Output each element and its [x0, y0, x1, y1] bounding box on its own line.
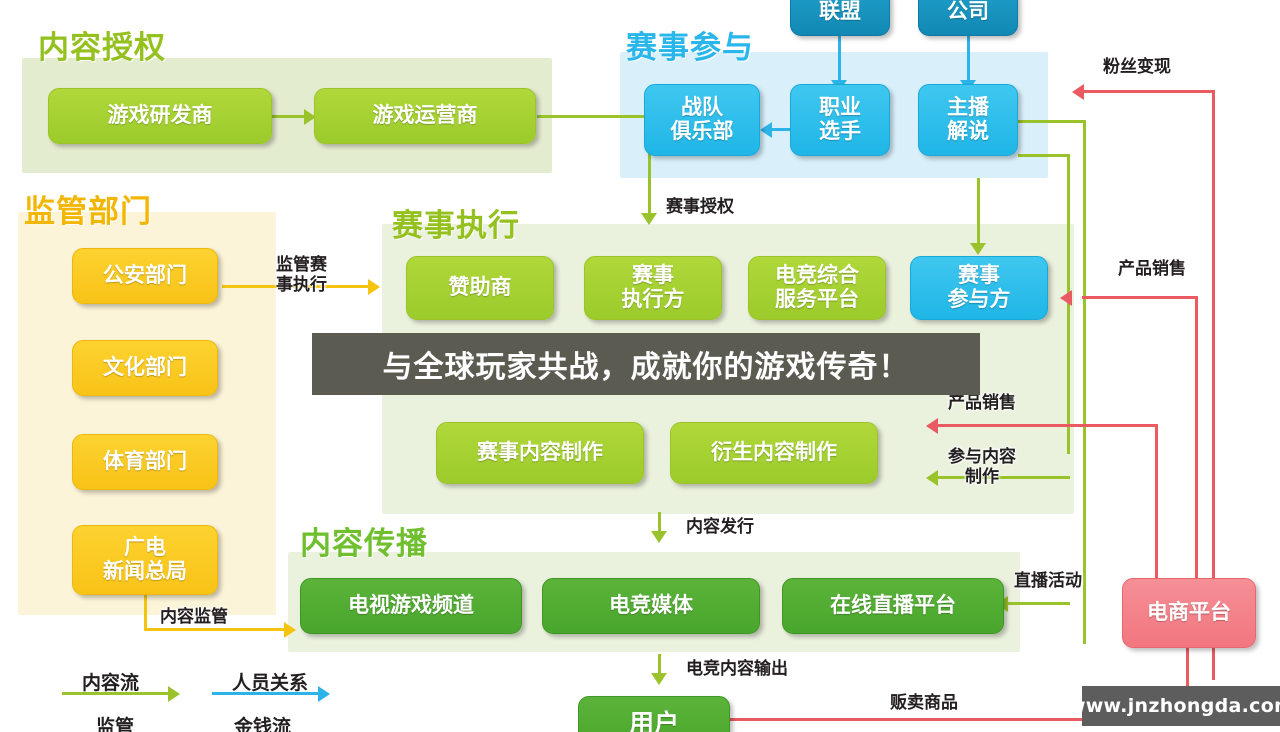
connector-fan-monetization-horizontal: [1084, 90, 1215, 93]
node-company[interactable]: 公司: [918, 0, 1018, 36]
node-derivative-content-production[interactable]: 衍生内容制作: [670, 422, 878, 484]
site-watermark: www.jnzhongda.com: [1082, 686, 1280, 726]
node-event-participant[interactable]: 赛事 参与方: [910, 256, 1048, 320]
edge-label-regulate-event-execution: 监管赛 事执行: [276, 256, 327, 295]
node-culture-dept[interactable]: 文化部门: [72, 340, 218, 396]
arrowhead-join-content-production: [926, 470, 938, 486]
connector-streamer-green-1: [1018, 120, 1086, 123]
node-streamer[interactable]: 主播 解说: [918, 84, 1018, 156]
section-label-content-distribution: 内容传播: [300, 518, 428, 563]
node-event-content-production[interactable]: 赛事内容制作: [436, 422, 644, 484]
section-label-event-execution: 赛事执行: [392, 200, 520, 245]
node-esports-media[interactable]: 电竞媒体: [542, 578, 760, 634]
edge-label-content-regulation: 内容监管: [160, 608, 228, 628]
connector-participation-to-participant: [977, 178, 980, 246]
legend-label-content-flow: 内容流: [82, 668, 139, 695]
legend-label-regulation: 监管: [96, 712, 134, 732]
arrowhead-product-sales-top: [1060, 290, 1072, 306]
node-sarft[interactable]: 广电 新闻总局: [72, 525, 218, 595]
node-user[interactable]: 用户: [578, 696, 730, 732]
node-sports-dept[interactable]: 体育部门: [72, 434, 218, 490]
edge-label-event-authorization: 赛事授权: [666, 198, 734, 218]
connector-product-sales-top: [1082, 296, 1198, 299]
connector-product-sales-mid-v: [1155, 424, 1158, 596]
connector-operator-right: [537, 115, 651, 118]
edge-label-sell-goods: 贩卖商品: [890, 694, 958, 714]
arrowhead-product-sales-mid: [926, 418, 938, 434]
node-public-security[interactable]: 公安部门: [72, 248, 218, 304]
node-team-club[interactable]: 战队 俱乐部: [644, 84, 760, 156]
edge-label-live-activity: 直播活动: [1014, 572, 1082, 592]
legend-arrowhead-content-flow: [168, 686, 180, 702]
node-game-operator[interactable]: 游戏运营商: [314, 88, 536, 144]
section-label-content-licensing: 内容授权: [38, 22, 166, 67]
edge-label-product-sales-top: 产品销售: [1118, 260, 1186, 280]
node-tv-game-channel[interactable]: 电视游戏频道: [300, 578, 522, 634]
node-alliance[interactable]: 联盟: [790, 0, 890, 36]
legend-arrowhead-personnel-relation: [318, 686, 330, 702]
connector-streamer-green-2: [1018, 154, 1070, 157]
legend-label-money-flow: 金钱流: [234, 712, 291, 732]
arrowhead-esports-content-output: [651, 673, 667, 685]
connector-developer-to-operator: [272, 115, 306, 118]
edge-label-content-release: 内容发行: [686, 518, 754, 538]
node-ecommerce-platform[interactable]: 电商平台: [1122, 578, 1256, 648]
arrowhead-regulate-event-execution: [368, 279, 380, 295]
edge-label-join-content-production: 参与内容 制作: [948, 448, 1016, 487]
connector-company-down: [967, 36, 970, 84]
node-sponsor[interactable]: 赞助商: [406, 256, 554, 320]
esports-ecosystem-diagram: 内容授权 监管部门 赛事参与 赛事执行 内容传播 赛事授权 粉丝变现 产品销售 …: [0, 0, 1280, 732]
section-label-event-participation: 赛事参与: [626, 22, 754, 67]
node-pro-player[interactable]: 职业 选手: [790, 84, 890, 156]
connector-content-regulation-h: [144, 628, 286, 631]
site-watermark-text: www.jnzhongda.com: [1068, 695, 1280, 717]
arrowhead-content-release: [651, 531, 667, 543]
node-service-platform[interactable]: 电竞综合 服务平台: [748, 256, 886, 320]
connector-product-sales-top-v: [1195, 296, 1198, 596]
connector-live-activity: [1008, 602, 1070, 605]
node-live-platform[interactable]: 在线直播平台: [782, 578, 1004, 634]
arrowhead-participation-to-participant: [970, 243, 986, 255]
edge-label-product-sales-mid: 产品销售: [948, 394, 1016, 414]
node-game-developer[interactable]: 游戏研发商: [48, 88, 272, 144]
arrowhead-content-regulation: [284, 622, 296, 638]
connector-product-sales-mid: [938, 424, 1158, 427]
promo-banner-text: 与全球玩家共战，成就你的游戏传奇！: [383, 342, 910, 386]
connector-alliance-down: [838, 36, 841, 84]
arrowhead-player-to-club: [760, 122, 772, 138]
arrowhead-fan-monetization: [1072, 84, 1084, 100]
node-event-organizer[interactable]: 赛事 执行方: [584, 256, 722, 320]
edge-label-fan-monetization: 粉丝变现: [1103, 58, 1171, 78]
arrowhead-event-authorization: [641, 213, 657, 225]
connector-content-regulation-v: [144, 595, 147, 630]
promo-banner-overlay: 与全球玩家共战，成就你的游戏传奇！: [312, 333, 980, 395]
connector-streamer-green-1-v: [1083, 120, 1086, 644]
edge-label-esports-content-output: 电竞内容输出: [686, 660, 788, 680]
section-label-regulatory: 监管部门: [24, 186, 152, 231]
legend-label-personnel-relation: 人员关系: [232, 668, 308, 695]
